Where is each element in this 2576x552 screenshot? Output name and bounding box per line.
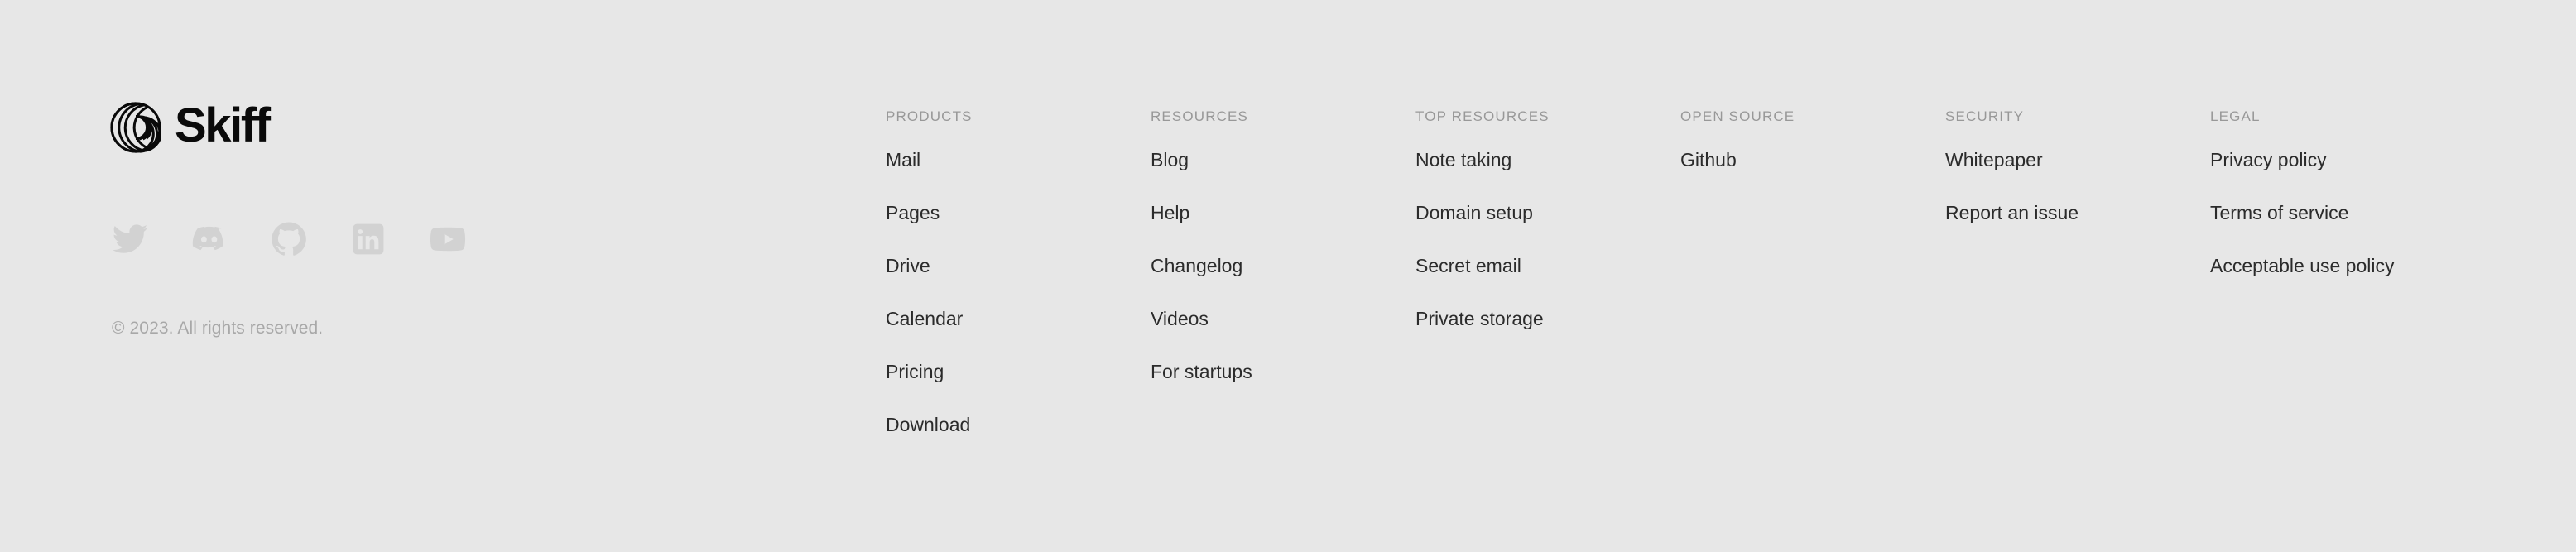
footer-link-domain-setup[interactable]: Domain setup (1415, 204, 1533, 223)
list-item: Acceptable use policy (2210, 257, 2475, 310)
footer-link-pages[interactable]: Pages (886, 204, 940, 223)
list-item: Github (1680, 151, 1945, 204)
footer-link-help[interactable]: Help (1151, 204, 1189, 223)
social-link-twitter[interactable] (110, 219, 150, 259)
list-item: Secret email (1415, 257, 1680, 310)
youtube-icon (429, 220, 467, 258)
footer-link-privacy-policy[interactable]: Privacy policy (2210, 151, 2327, 170)
column-heading: OPEN SOURCE (1680, 109, 1945, 123)
site-footer: Skiff (0, 0, 2576, 552)
column-link-list: Github (1680, 151, 1945, 204)
column-link-list: Whitepaper Report an issue (1945, 151, 2210, 257)
footer-link-videos[interactable]: Videos (1151, 310, 1209, 329)
list-item: Pages (886, 204, 1151, 257)
discord-icon (190, 220, 228, 258)
footer-brand-block: Skiff (110, 91, 690, 164)
footer-link-calendar[interactable]: Calendar (886, 310, 963, 329)
social-link-linkedin[interactable] (348, 219, 388, 259)
list-item: Private storage (1415, 310, 1680, 362)
list-item: Privacy policy (2210, 151, 2475, 204)
column-link-list: Blog Help Changelog Videos For startups (1151, 151, 1415, 415)
list-item: Changelog (1151, 257, 1415, 310)
column-heading: SECURITY (1945, 109, 2210, 123)
footer-link-terms-of-service[interactable]: Terms of service (2210, 204, 2348, 223)
footer-column-top-resources: TOP RESOURCES Note taking Domain setup S… (1415, 109, 1680, 468)
column-link-list: Mail Pages Drive Calendar Pricing Downlo… (886, 151, 1151, 468)
list-item: Mail (886, 151, 1151, 204)
column-heading: TOP RESOURCES (1415, 109, 1680, 123)
footer-link-changelog[interactable]: Changelog (1151, 257, 1242, 276)
list-item: Help (1151, 204, 1415, 257)
column-link-list: Note taking Domain setup Secret email Pr… (1415, 151, 1680, 362)
footer-link-mail[interactable]: Mail (886, 151, 920, 170)
column-link-list: Privacy policy Terms of service Acceptab… (2210, 151, 2475, 310)
footer-link-acceptable-use-policy[interactable]: Acceptable use policy (2210, 257, 2394, 276)
social-link-github[interactable] (269, 219, 309, 259)
footer-link-secret-email[interactable]: Secret email (1415, 257, 1521, 276)
list-item: Terms of service (2210, 204, 2475, 257)
footer-column-legal: LEGAL Privacy policy Terms of service Ac… (2210, 109, 2475, 468)
list-item: Domain setup (1415, 204, 1680, 257)
list-item: Whitepaper (1945, 151, 2210, 204)
footer-link-drive[interactable]: Drive (886, 257, 930, 276)
footer-link-report-an-issue[interactable]: Report an issue (1945, 204, 2079, 223)
social-link-discord[interactable] (190, 219, 229, 259)
social-links-row (110, 219, 468, 259)
list-item: Blog (1151, 151, 1415, 204)
social-link-youtube[interactable] (428, 219, 468, 259)
footer-link-private-storage[interactable]: Private storage (1415, 310, 1544, 329)
brand-lockup[interactable]: Skiff (110, 91, 690, 164)
footer-link-whitepaper[interactable]: Whitepaper (1945, 151, 2043, 170)
list-item: Videos (1151, 310, 1415, 362)
footer-link-columns: PRODUCTS Mail Pages Drive Calendar Prici… (886, 109, 2475, 468)
column-heading: RESOURCES (1151, 109, 1415, 123)
brand-wordmark: Skiff (175, 102, 269, 150)
footer-link-for-startups[interactable]: For startups (1151, 362, 1252, 382)
column-heading: LEGAL (2210, 109, 2475, 123)
list-item: Drive (886, 257, 1151, 310)
footer-column-products: PRODUCTS Mail Pages Drive Calendar Prici… (886, 109, 1151, 468)
footer-link-note-taking[interactable]: Note taking (1415, 151, 1511, 170)
footer-link-download[interactable]: Download (886, 415, 970, 434)
list-item: For startups (1151, 362, 1415, 415)
list-item: Report an issue (1945, 204, 2210, 257)
list-item: Calendar (886, 310, 1151, 362)
skiff-spiral-logo-icon (110, 102, 161, 153)
footer-column-resources: RESOURCES Blog Help Changelog Videos For… (1151, 109, 1415, 468)
footer-link-pricing[interactable]: Pricing (886, 362, 944, 382)
github-icon (270, 220, 308, 258)
column-heading: PRODUCTS (886, 109, 1151, 123)
list-item: Pricing (886, 362, 1151, 415)
footer-link-blog[interactable]: Blog (1151, 151, 1189, 170)
list-item: Download (886, 415, 1151, 468)
list-item: Note taking (1415, 151, 1680, 204)
footer-link-github[interactable]: Github (1680, 151, 1737, 170)
footer-column-open-source: OPEN SOURCE Github (1680, 109, 1945, 468)
linkedin-icon (349, 220, 387, 258)
copyright-text: © 2023. All rights reserved. (112, 319, 323, 338)
footer-column-security: SECURITY Whitepaper Report an issue (1945, 109, 2210, 468)
twitter-icon (111, 220, 149, 258)
